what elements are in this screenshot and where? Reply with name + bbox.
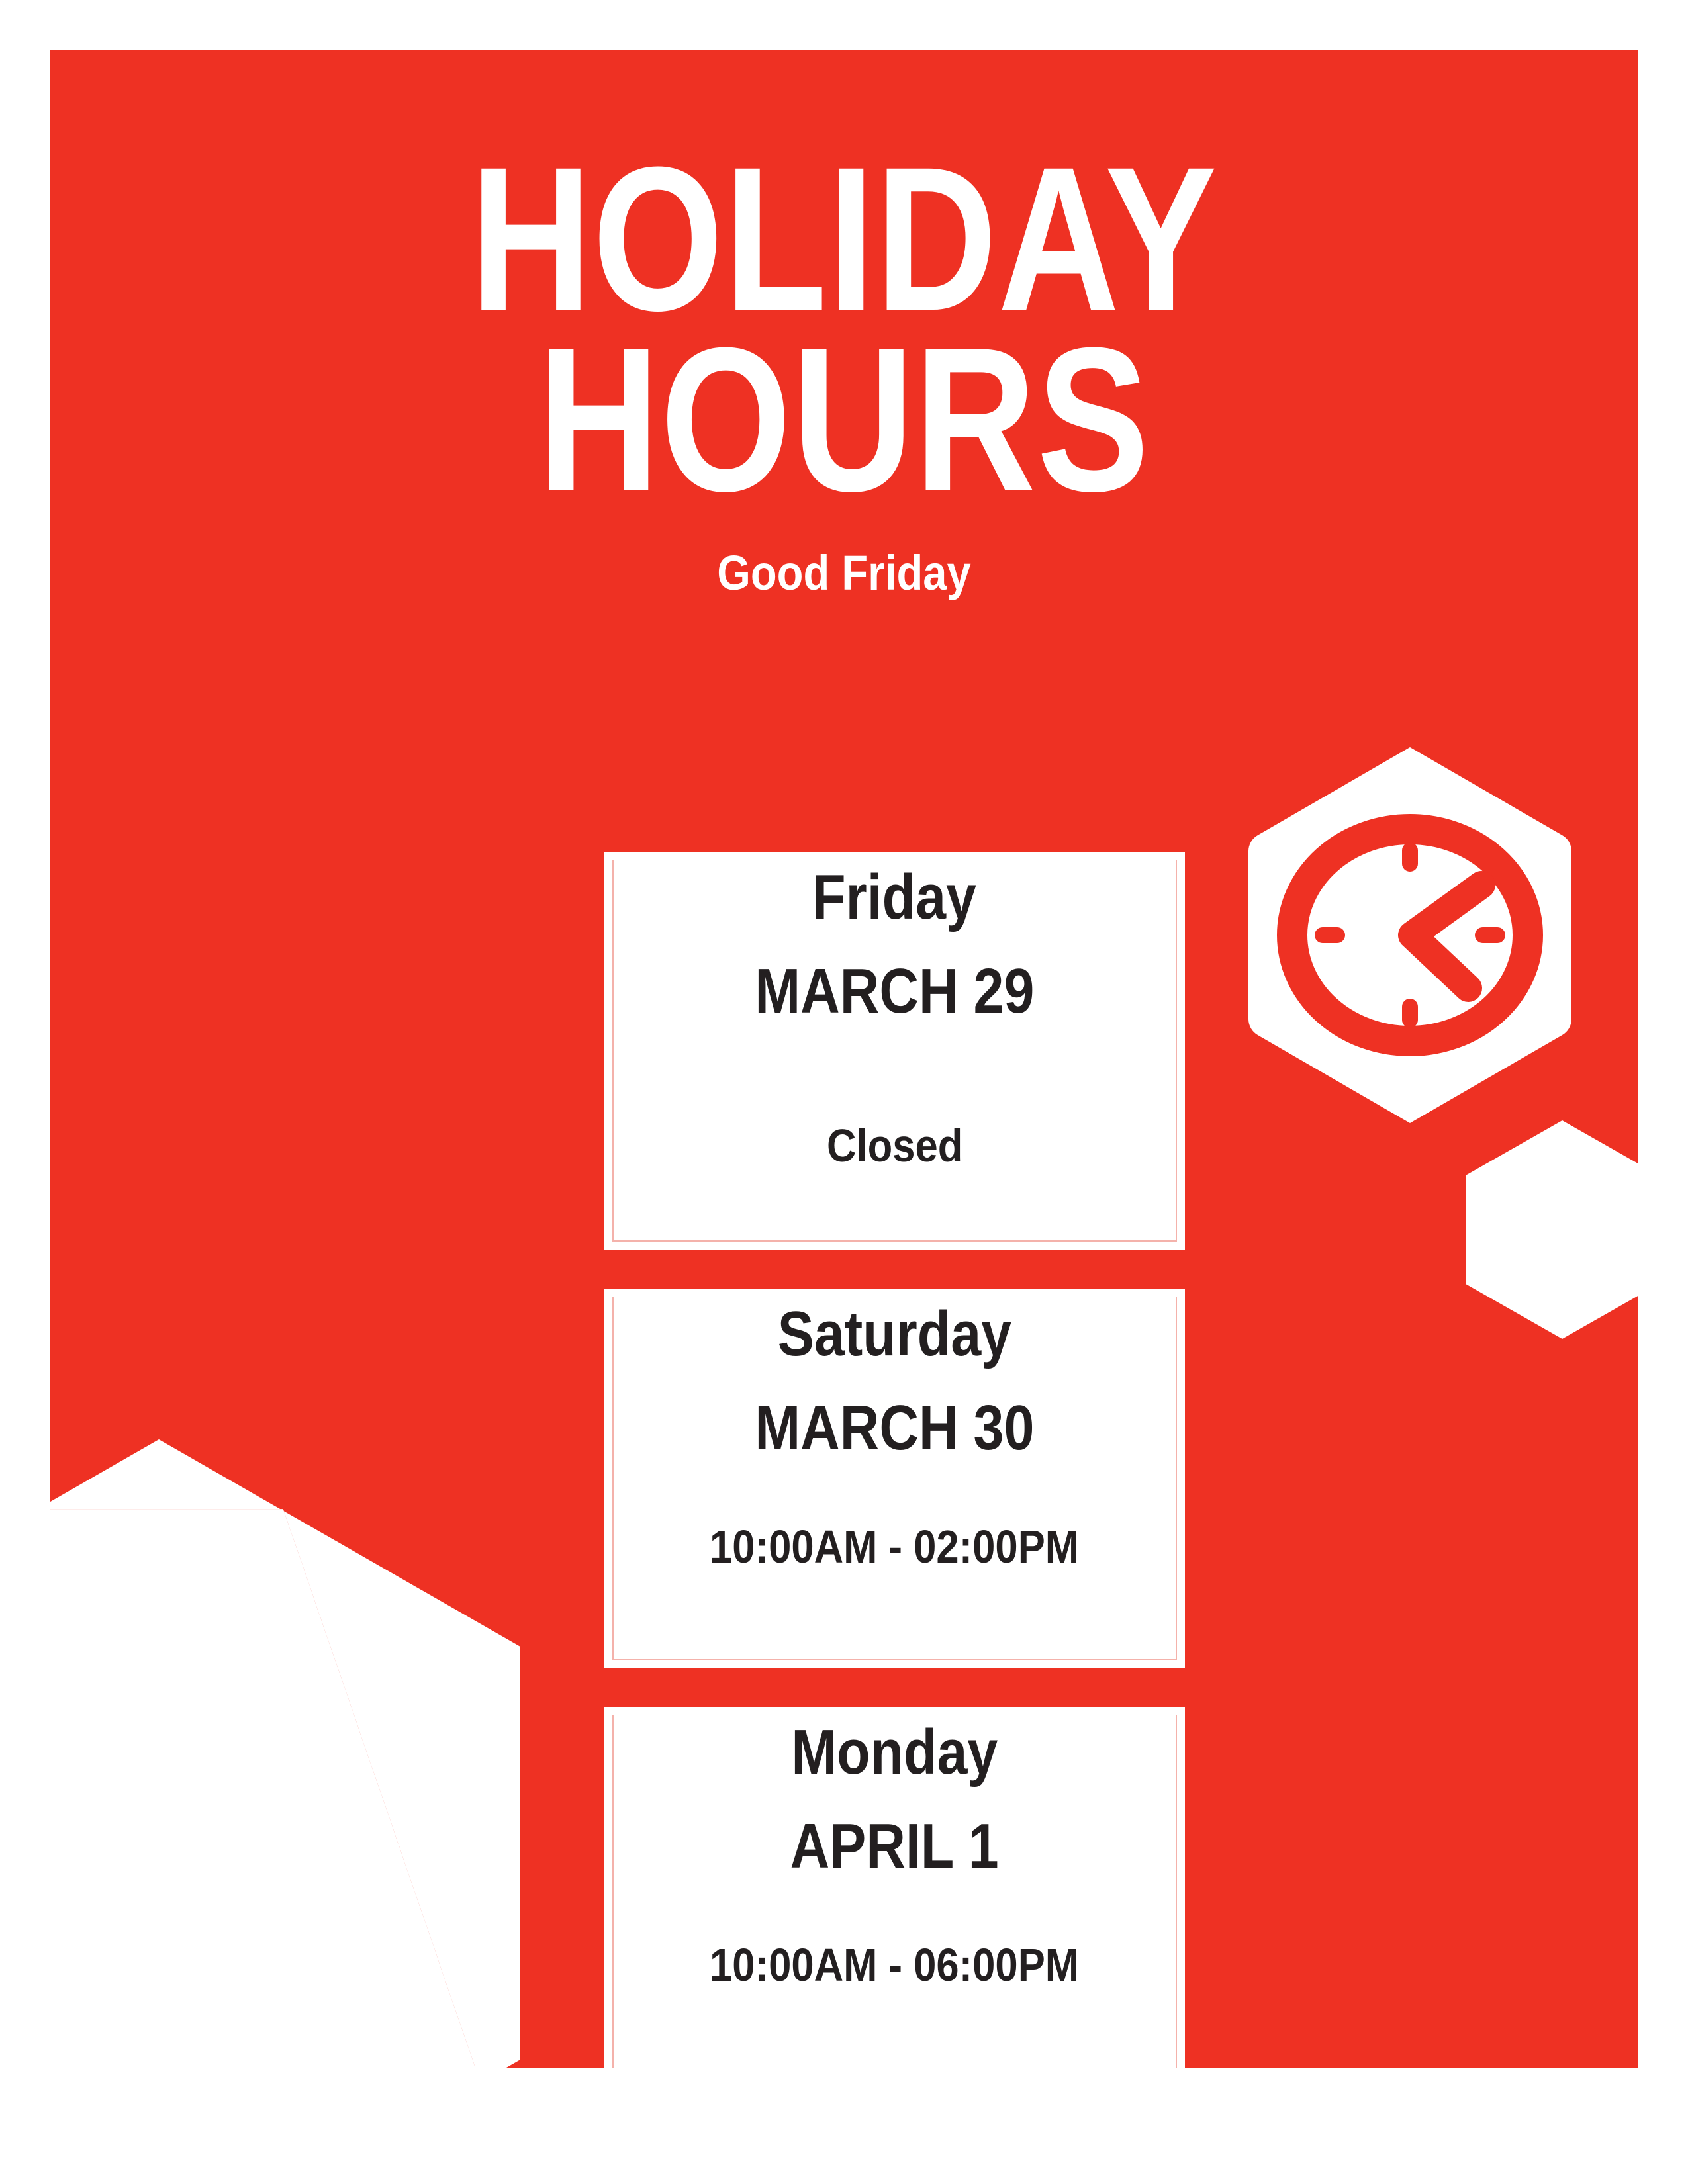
- schedule-day-name: Friday: [813, 866, 977, 929]
- schedule-day-date: MARCH 30: [755, 1396, 1034, 1460]
- page-title-line-2: HOURS: [193, 330, 1495, 510]
- schedule-card[interactable]: Saturday MARCH 30 10:00AM - 02:00PM: [604, 1289, 1185, 1668]
- schedule-day-hours: 10:00AM - 06:00PM: [710, 1942, 1079, 1988]
- holiday-hours-poster: HOLIDAY HOURS Good Friday: [0, 0, 1688, 2184]
- poster-background-panel: HOLIDAY HOURS Good Friday: [50, 50, 1638, 2068]
- schedule-card[interactable]: Monday APRIL 1 10:00AM - 06:00PM: [604, 1707, 1185, 2068]
- schedule-card-list: Friday MARCH 29 Closed Saturday MARCH 30…: [604, 852, 1185, 2068]
- clock-icon: [1244, 743, 1575, 1127]
- schedule-day-hours: 10:00AM - 02:00PM: [710, 1524, 1079, 1570]
- schedule-day-date: APRIL 1: [790, 1815, 999, 1878]
- schedule-day-name: Monday: [792, 1721, 998, 1784]
- schedule-day-hours: Closed: [827, 1122, 962, 1169]
- hexagon-icon-bottom-left: [50, 1439, 520, 2068]
- poster-title-block: HOLIDAY HOURS Good Friday: [50, 149, 1638, 598]
- schedule-day-date: MARCH 29: [755, 960, 1034, 1023]
- page-subtitle: Good Friday: [145, 549, 1543, 598]
- hexagon-icon-right-small: [1466, 1120, 1638, 1339]
- schedule-day-name: Saturday: [778, 1302, 1011, 1366]
- schedule-card[interactable]: Friday MARCH 29 Closed: [604, 852, 1185, 1250]
- page-title-line-1: HOLIDAY: [193, 149, 1495, 330]
